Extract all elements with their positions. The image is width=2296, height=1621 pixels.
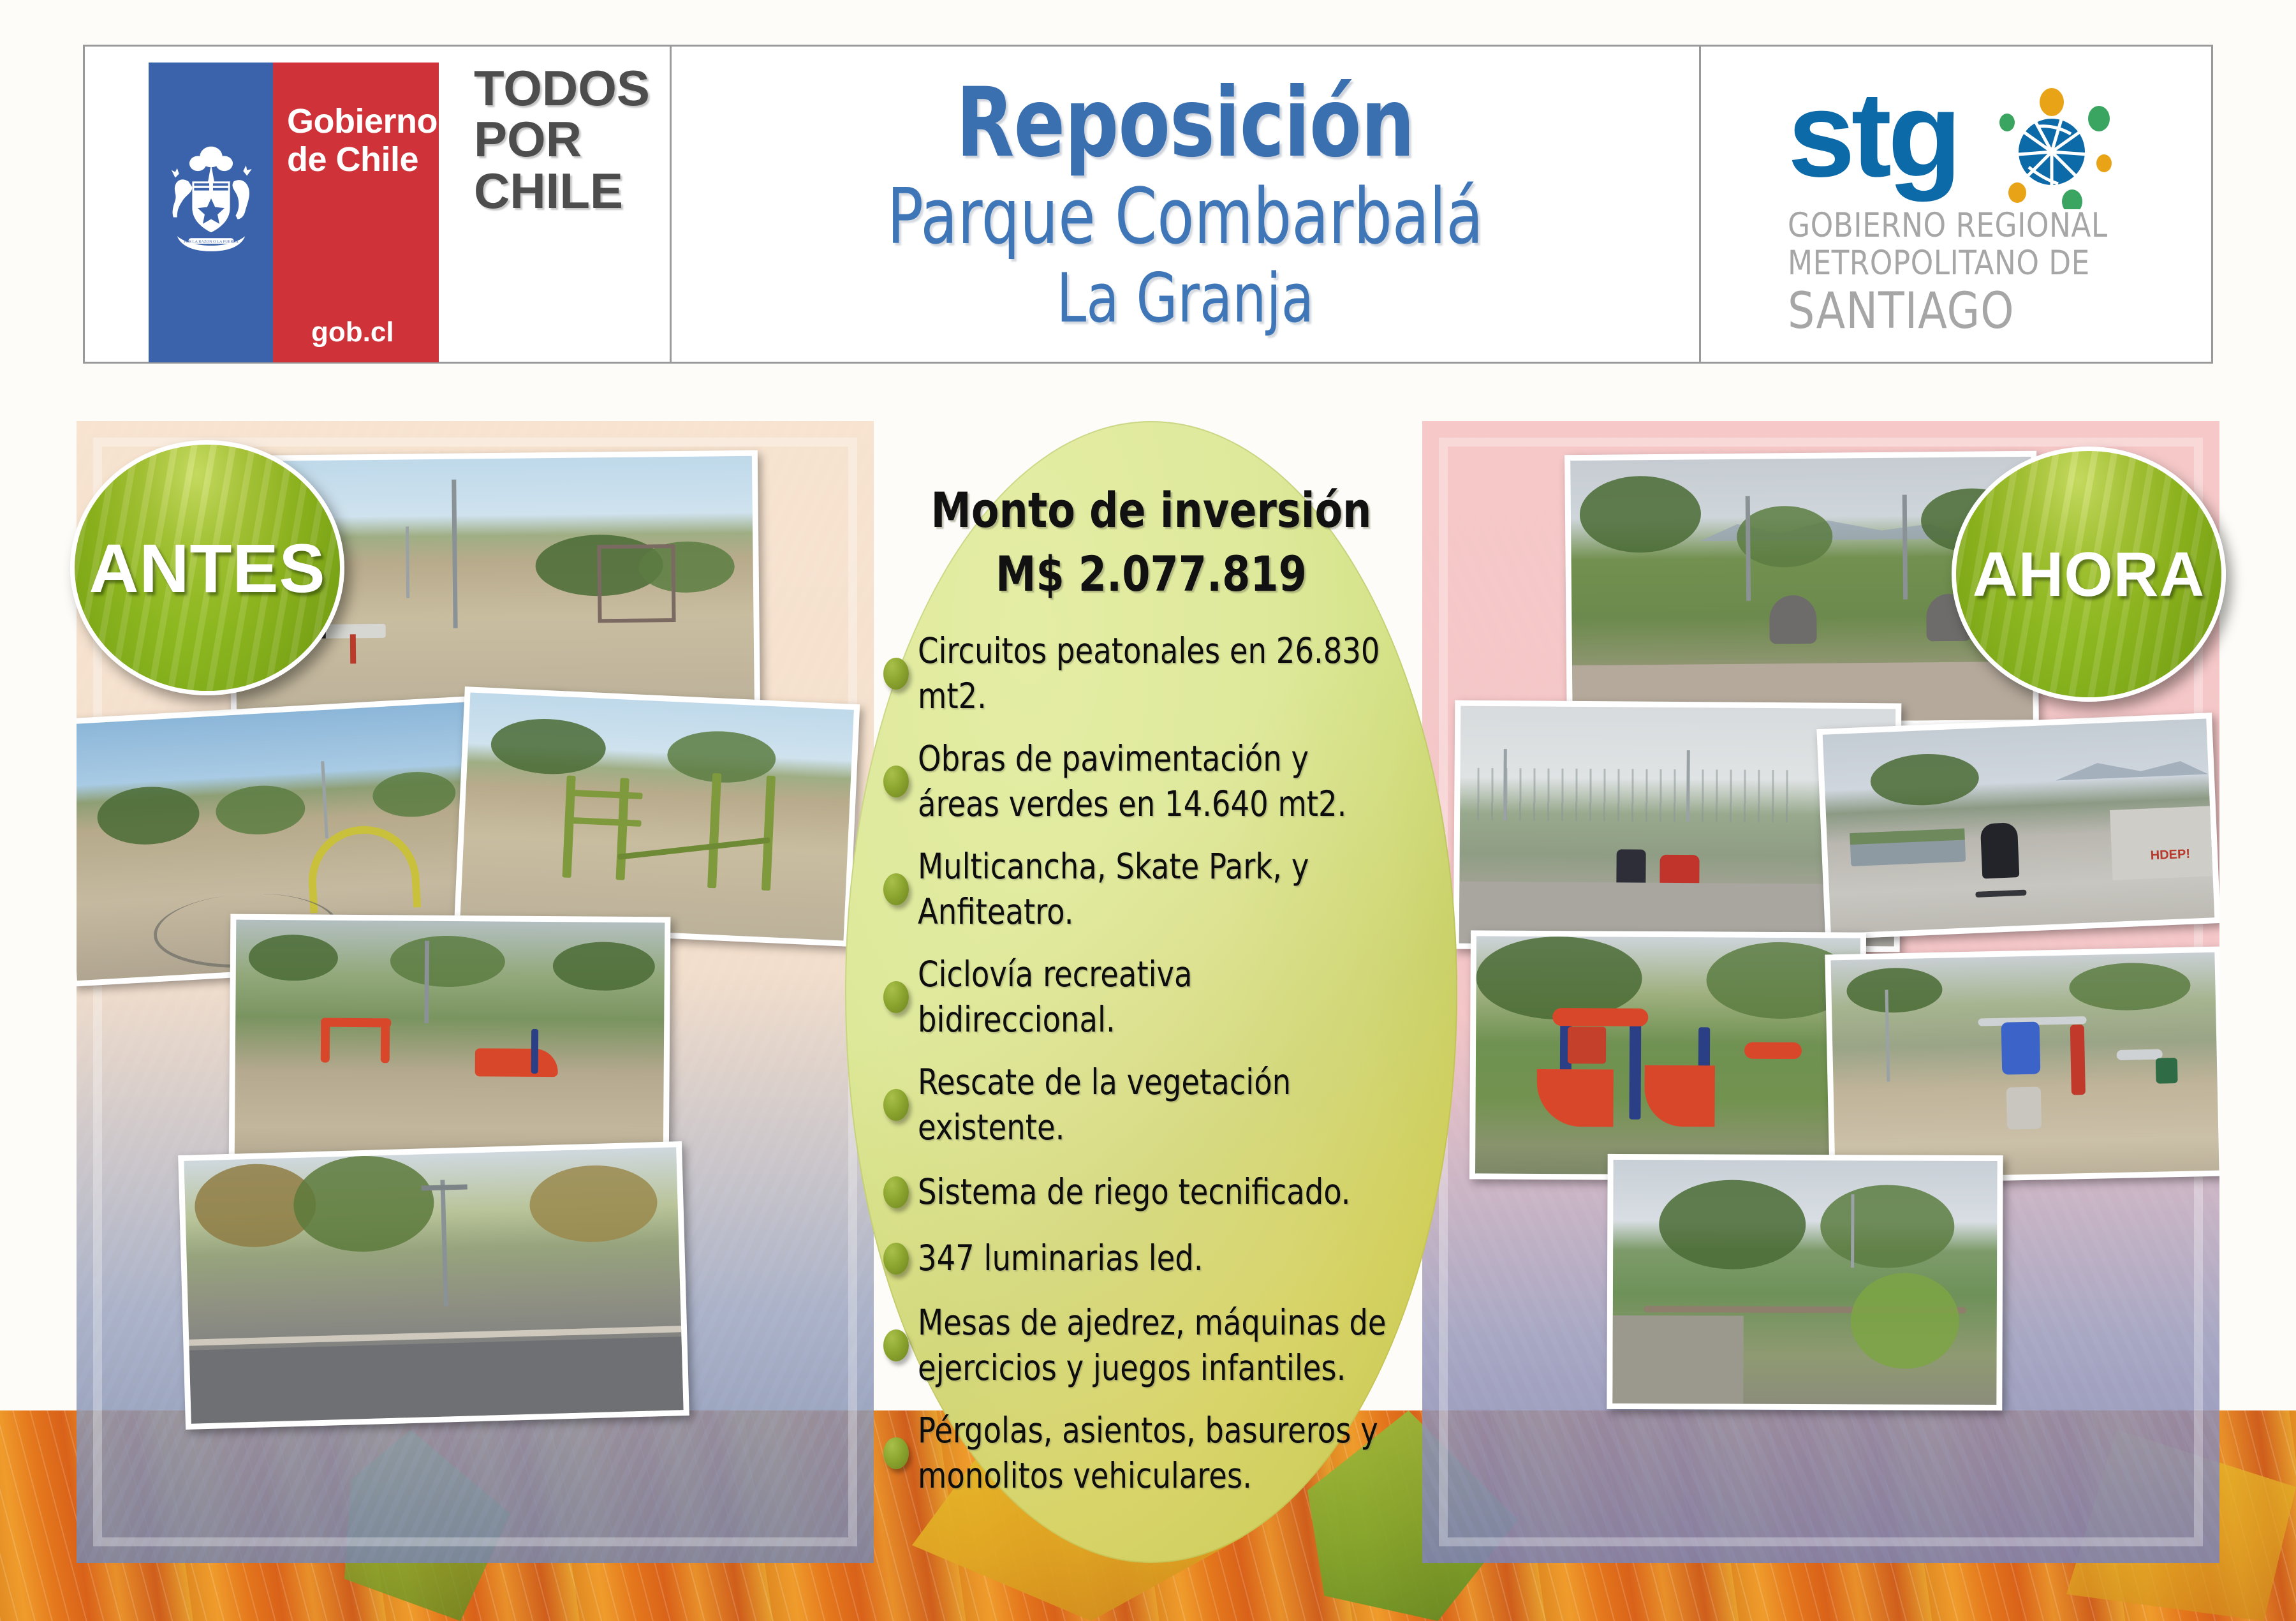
photo-juegos-metalicos xyxy=(454,686,860,947)
list-item: Circuitos peatonales en 26.830 mt2. xyxy=(883,628,1424,720)
list-item-label: Mesas de ajedrez, máquinas de ejercicios… xyxy=(918,1300,1394,1391)
stgo-line3: SANTIAGO xyxy=(1788,284,2108,339)
slogan-line1: TODOS xyxy=(474,63,650,114)
list-item: Ciclovía recreativa bidireccional. xyxy=(883,952,1424,1043)
bullet-dot-icon xyxy=(883,658,909,690)
bullet-dot-icon xyxy=(883,873,909,905)
slogan-todos-por-chile: TODOS POR CHILE xyxy=(474,63,650,362)
badge-ahora: AHORA xyxy=(1952,447,2226,702)
list-item-label: Rescate de la vegetación existente. xyxy=(918,1060,1394,1151)
stgo-line1: GOBIERNO REGIONAL xyxy=(1788,207,2108,244)
list-item-label: Obras de pavimentación y áreas verdes en… xyxy=(918,736,1394,827)
list-item: Obras de pavimentación y áreas verdes en… xyxy=(883,736,1424,827)
bullet-dot-icon xyxy=(883,981,909,1013)
list-item: Multicancha, Skate Park, y Anfiteatro. xyxy=(883,844,1424,935)
photo-juegos-abandonados xyxy=(229,914,671,1173)
chile-coat-of-arms-icon: POR LA RAZON O LA FUERZA xyxy=(164,140,258,261)
flag-blue-block: POR LA RAZON O LA FUERZA xyxy=(149,63,273,362)
photo-maquinas-ejercicio-nino xyxy=(1825,947,2219,1185)
investment-amount: M$ 2.077.819 xyxy=(897,542,1405,606)
stgo-subtitle: GOBIERNO REGIONAL METROPOLITANO DE SANTI… xyxy=(1788,207,2108,339)
features-list: Circuitos peatonales en 26.830 mt2. Obra… xyxy=(878,628,1424,1499)
photo-image xyxy=(1475,936,1860,1175)
photo-image xyxy=(184,1147,683,1423)
stgo-burst-icon xyxy=(1991,88,2118,209)
bullet-dot-icon xyxy=(883,1437,909,1469)
header-stg-cell: stg xyxy=(1701,47,2211,362)
photo-area-verde-arboles-nuevos xyxy=(1607,1154,2003,1410)
bullet-dot-icon xyxy=(883,1329,909,1361)
list-item-label: Multicancha, Skate Park, y Anfiteatro. xyxy=(918,844,1394,935)
list-item: Rescate de la vegetación existente. xyxy=(883,1060,1424,1151)
photo-avenida-arboles-secos xyxy=(178,1141,689,1430)
slogan-line3: CHILE xyxy=(474,165,650,216)
badge-antes: ANTES xyxy=(70,440,344,695)
gobcl-url: gob.cl xyxy=(311,316,394,348)
investment-block: Monto de inversión M$ 2.077.819 xyxy=(897,478,1405,607)
photo-image xyxy=(1830,952,2219,1179)
page-subtitle: Parque Combarbalá xyxy=(887,174,1483,262)
flag-red-block: Gobierno de Chile gob.cl xyxy=(273,63,439,362)
gobierno-line2: de Chile xyxy=(287,140,438,179)
stgo-wordmark: stg xyxy=(1788,65,1958,204)
photo-image xyxy=(235,920,665,1167)
list-item: Pérgolas, asientos, basureros y monolito… xyxy=(883,1408,1424,1499)
list-item-label: 347 luminarias led. xyxy=(918,1236,1203,1282)
investment-label: Monto de inversión xyxy=(897,478,1405,542)
list-item: 347 luminarias led. xyxy=(883,1234,1424,1284)
stgo-line2: METROPOLITANO DE xyxy=(1788,244,2108,282)
list-item-label: Ciclovía recreativa bidireccional. xyxy=(918,952,1394,1043)
bullet-dot-icon xyxy=(883,1243,909,1275)
photo-juegos-infantiles-nuevos xyxy=(1469,930,1866,1181)
page-title: Reposición xyxy=(956,73,1414,174)
bullet-dot-icon xyxy=(883,1176,909,1208)
list-item-label: Sistema de riego tecnificado. xyxy=(918,1169,1351,1215)
badge-antes-label: ANTES xyxy=(89,528,325,608)
badge-ahora-label: AHORA xyxy=(1973,538,2205,611)
gobierno-de-chile-text: Gobierno de Chile xyxy=(287,102,438,179)
stgo-logo: stg xyxy=(1788,77,2124,339)
list-item: Mesas de ajedrez, máquinas de ejercicios… xyxy=(883,1300,1424,1391)
slogan-line2: POR xyxy=(474,114,650,165)
bullet-dot-icon xyxy=(883,1089,909,1121)
header-title-cell: Reposición Parque Combarbalá La Granja xyxy=(672,47,1701,362)
list-item-label: Pérgolas, asientos, basureros y monolito… xyxy=(918,1408,1394,1499)
page-subtitle-location: La Granja xyxy=(1057,262,1314,336)
list-item-label: Circuitos peatonales en 26.830 mt2. xyxy=(918,628,1394,720)
gobierno-de-chile-logo: POR LA RAZON O LA FUERZA Gobierno de Chi… xyxy=(149,63,650,362)
photo-image xyxy=(460,693,854,941)
center-oval-panel: Monto de inversión M$ 2.077.819 Circuito… xyxy=(845,421,1457,1563)
photo-image xyxy=(1612,1160,1997,1405)
oval-content: Monto de inversión M$ 2.077.819 Circuito… xyxy=(845,421,1457,1499)
header-bar: POR LA RAZON O LA FUERZA Gobierno de Chi… xyxy=(83,45,2213,364)
header-left-cell: POR LA RAZON O LA FUERZA Gobierno de Chi… xyxy=(85,47,672,362)
list-item: Sistema de riego tecnificado. xyxy=(883,1167,1424,1217)
stgo-wordmark-block: stg xyxy=(1788,77,2119,198)
gobierno-line1: Gobierno xyxy=(287,102,438,140)
svg-text:POR LA RAZON O LA FUERZA: POR LA RAZON O LA FUERZA xyxy=(184,240,239,244)
bullet-dot-icon xyxy=(883,766,909,797)
photo-image: HDEP! xyxy=(1823,719,2215,934)
photo-skate-park: HDEP! xyxy=(1816,713,2219,940)
